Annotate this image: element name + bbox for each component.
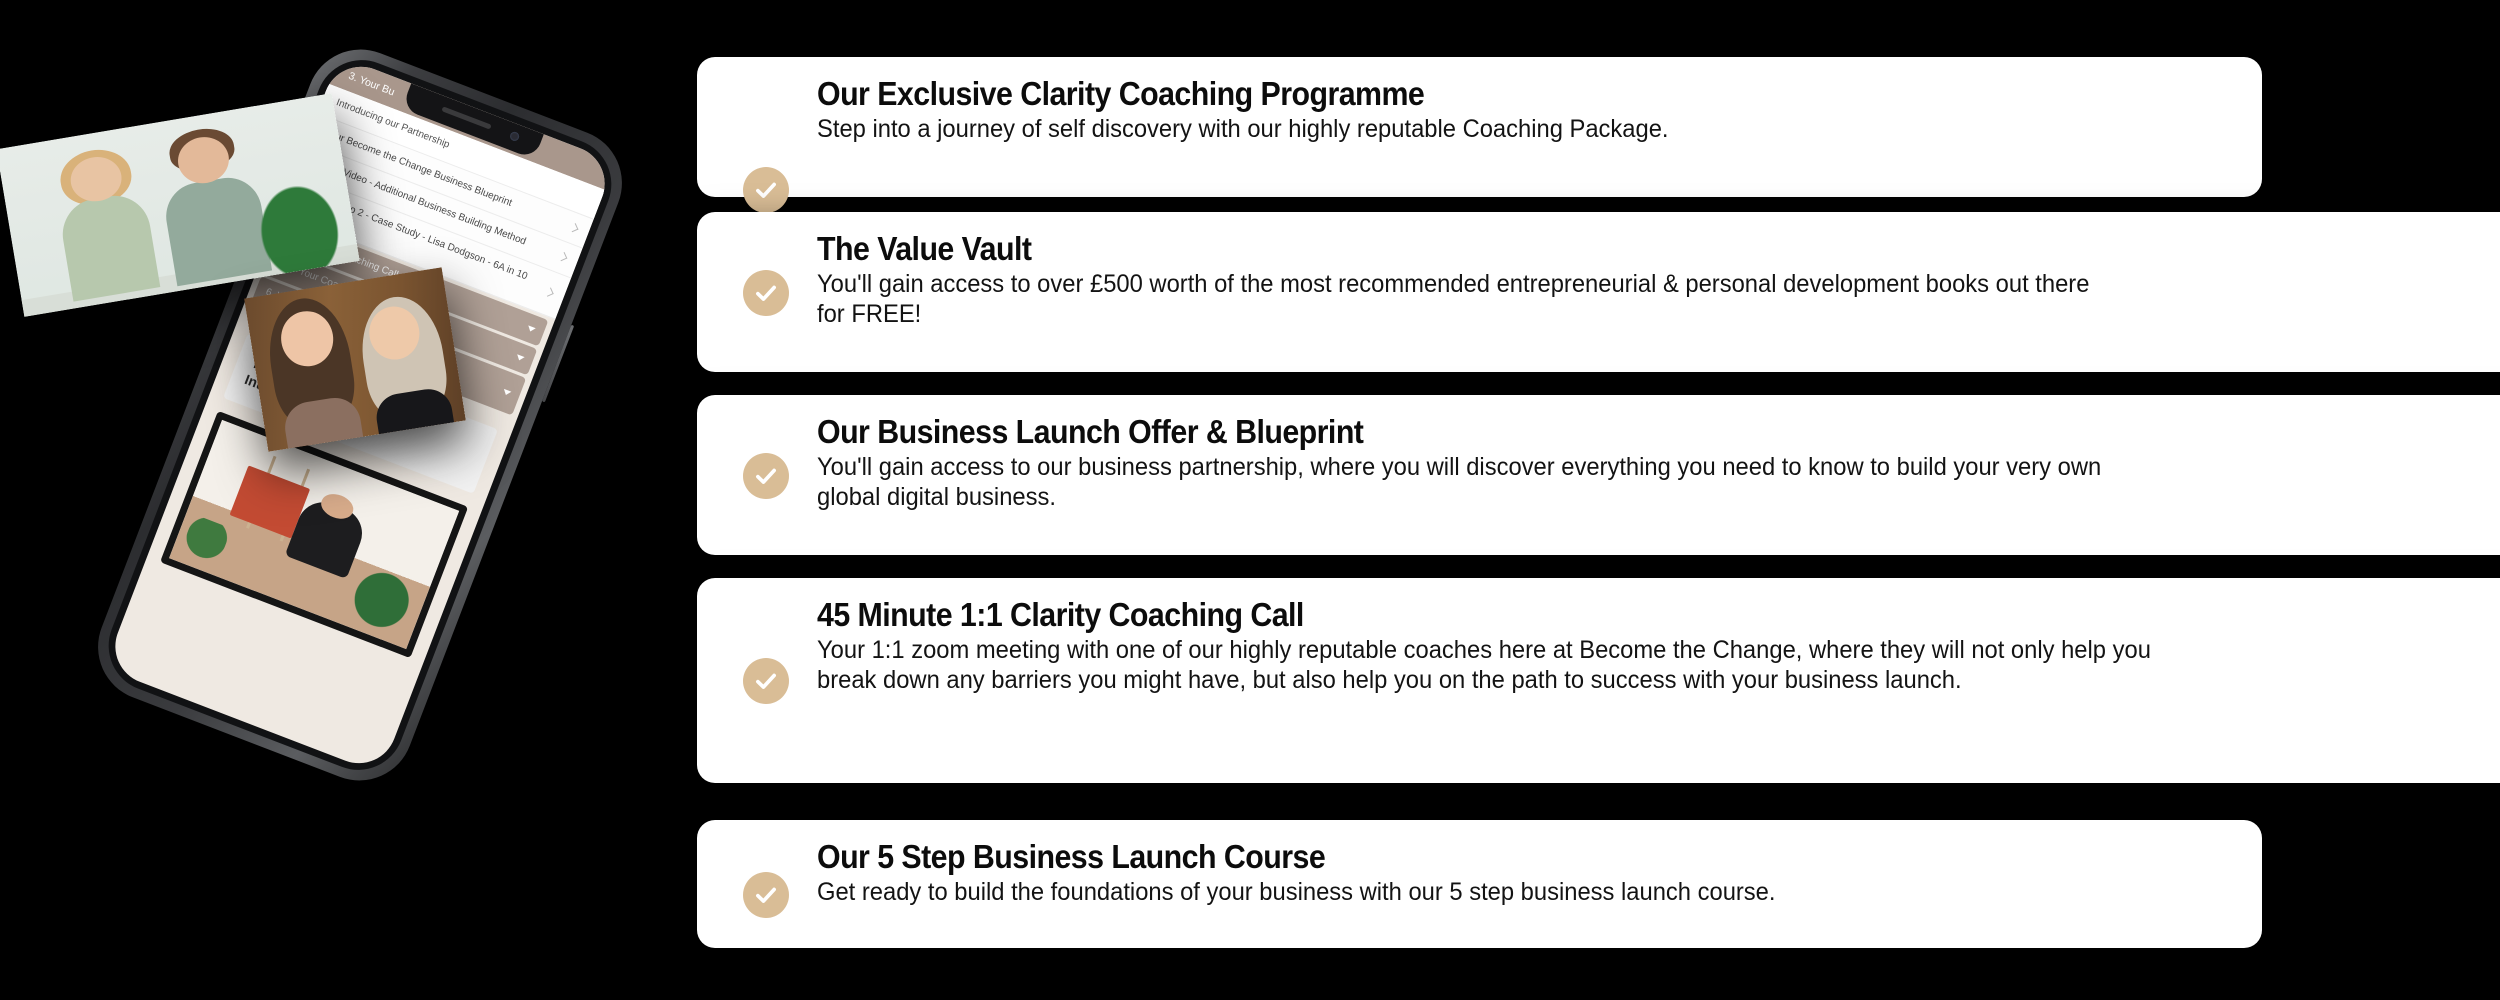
- thumbnail-plant: [243, 168, 353, 278]
- feature-card-clarity-coaching-programme[interactable]: Our Exclusive Clarity Coaching Programme…: [697, 57, 2262, 197]
- phone-mockup-composition: 3. Your Bu Introducing our Partnership Y…: [0, 0, 700, 1000]
- feature-card-5-step-launch-course[interactable]: Our 5 Step Business Launch Course Get re…: [697, 820, 2262, 948]
- front-camera-icon: [509, 131, 521, 143]
- check-circle-icon: [743, 872, 789, 918]
- video-thumbnail-two-women[interactable]: [244, 267, 466, 451]
- check-circle-icon: [743, 270, 789, 316]
- chevron-right-icon: [569, 223, 578, 232]
- feature-card-clarity-coaching-call[interactable]: 45 Minute 1:1 Clarity Coaching Call Your…: [697, 578, 2500, 783]
- feature-description: Your 1:1 zoom meeting with one of our hi…: [817, 636, 2214, 696]
- feature-card-value-vault[interactable]: The Value Vault You'll gain access to ov…: [697, 212, 2500, 372]
- feature-description: You'll gain access to over £500 worth of…: [817, 270, 2109, 330]
- feature-description: Step into a journey of self discovery wi…: [817, 115, 2152, 145]
- feature-title: 45 Minute 1:1 Clarity Coaching Call: [817, 596, 2381, 634]
- feature-title: The Value Vault: [817, 230, 2381, 268]
- check-circle-icon: [743, 658, 789, 704]
- feature-title: Our Exclusive Clarity Coaching Programme: [817, 75, 2110, 113]
- check-circle-icon: [743, 453, 789, 499]
- chevron-down-icon: [527, 325, 536, 333]
- feature-description: You'll gain access to our business partn…: [817, 453, 2147, 513]
- chevron-right-icon: [558, 252, 567, 261]
- chevron-down-icon: [516, 354, 525, 362]
- check-circle-icon: [743, 167, 789, 213]
- feature-title: Our Business Launch Offer & Blueprint: [817, 413, 2381, 451]
- chevron-down-icon: [502, 388, 511, 396]
- feature-description: Get ready to build the foundations of yo…: [817, 878, 2152, 908]
- chevron-right-icon: [544, 287, 553, 296]
- promo-feature-graphic: 3. Your Bu Introducing our Partnership Y…: [0, 0, 2500, 1000]
- feature-card-business-launch-offer[interactable]: Our Business Launch Offer & Blueprint Yo…: [697, 395, 2500, 555]
- feature-title: Our 5 Step Business Launch Course: [817, 838, 2110, 876]
